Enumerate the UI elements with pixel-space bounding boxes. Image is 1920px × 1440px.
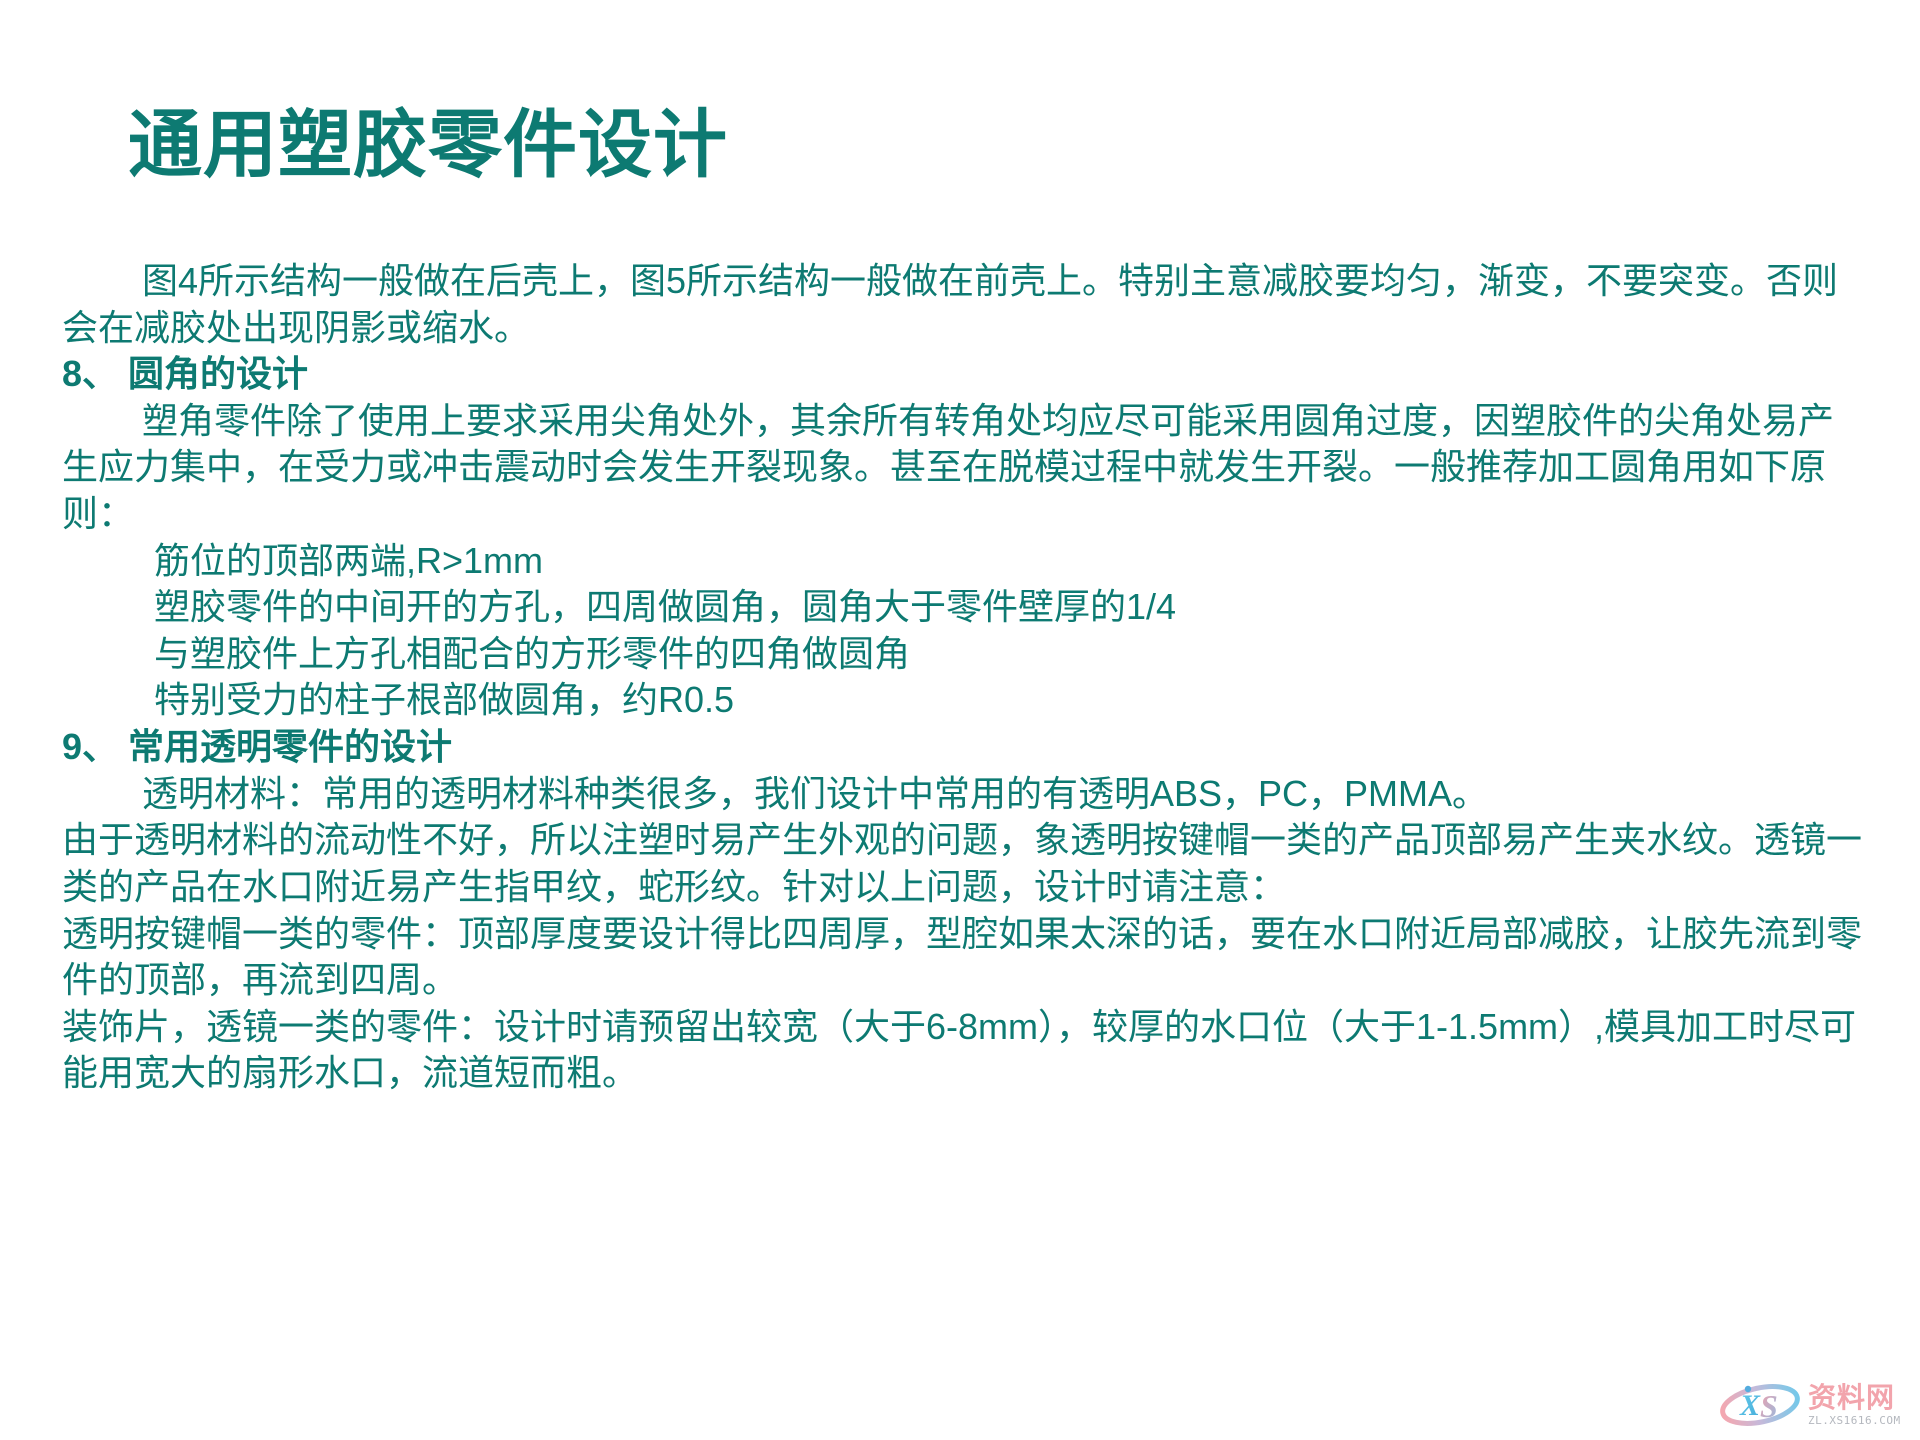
- svg-text:X: X: [1739, 1389, 1761, 1422]
- section-8-heading: 8、 圆角的设计: [62, 351, 1862, 398]
- section-8-list-item-3: 与塑胶件上方孔相配合的方形零件的四角做圆角: [62, 631, 1862, 678]
- watermark-text-group: 资料网 ZL.XS1616.COM: [1808, 1384, 1901, 1426]
- section-8-list-item-2: 塑胶零件的中间开的方孔，四周做圆角，圆角大于零件壁厚的1/4: [62, 584, 1862, 631]
- section-8-list-item-4: 特别受力的柱子根部做圆角，约R0.5: [62, 677, 1862, 724]
- section-9-paragraph-4: 装饰片，透镜一类的零件：设计时请预留出较宽（大于6-8mm），较厚的水口位（大于…: [62, 1004, 1862, 1097]
- slide-body: 图4所示结构一般做在后壳上，图5所示结构一般做在前壳上。特别主意减胶要均匀，渐变…: [62, 258, 1862, 1097]
- intro-paragraph: 图4所示结构一般做在后壳上，图5所示结构一般做在前壳上。特别主意减胶要均匀，渐变…: [62, 258, 1862, 351]
- slide-canvas: 通用塑胶零件设计 图4所示结构一般做在后壳上，图5所示结构一般做在前壳上。特别主…: [0, 0, 1920, 1440]
- svg-text:S: S: [1760, 1388, 1778, 1424]
- section-9-paragraph-1: 透明材料：常用的透明材料种类很多，我们设计中常用的有透明ABS，PC，PMMA。: [62, 771, 1862, 818]
- watermark: X S 资料网 ZL.XS1616.COM: [1718, 1376, 1904, 1434]
- section-9-paragraph-3: 透明按键帽一类的零件：顶部厚度要设计得比四周厚，型腔如果太深的话，要在水口附近局…: [62, 911, 1862, 1004]
- xs-logo-icon: X S: [1718, 1381, 1802, 1429]
- section-8-list-item-1: 筋位的顶部两端,R>1mm: [62, 538, 1862, 585]
- section-9-heading: 9、 常用透明零件的设计: [62, 724, 1862, 771]
- watermark-site-name: 资料网: [1808, 1384, 1901, 1412]
- watermark-url: ZL.XS1616.COM: [1808, 1415, 1901, 1426]
- section-9-paragraph-2: 由于透明材料的流动性不好，所以注塑时易产生外观的问题，象透明按键帽一类的产品顶部…: [62, 817, 1862, 910]
- page-title: 通用塑胶零件设计: [128, 108, 1728, 182]
- section-8-paragraph: 塑角零件除了使用上要求采用尖角处外，其余所有转角处均应尽可能采用圆角过度，因塑胶…: [62, 398, 1862, 538]
